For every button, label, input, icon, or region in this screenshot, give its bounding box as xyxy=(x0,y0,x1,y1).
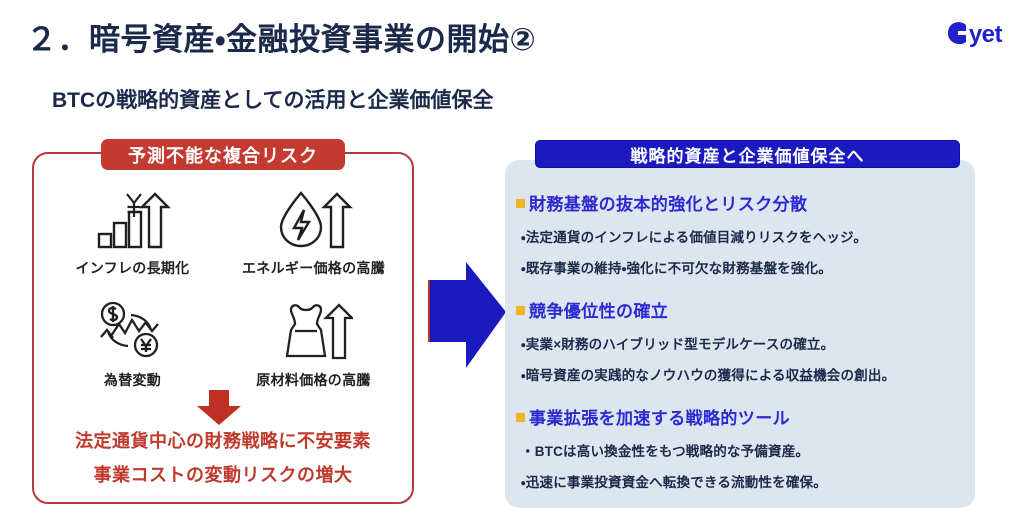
section-item: ・実業×財務のハイブリッド型モデルケースの確立。 xyxy=(521,333,968,353)
down-arrow-icon xyxy=(195,390,243,426)
strategy-section-financial-base: 財務基盤の抜本的強化とリスク分散 ・法定通貨のインフレによる価値目減りリスクをヘ… xyxy=(516,190,968,277)
energy-drop-bolt-up-icon xyxy=(275,188,353,250)
section-heading-text: 財務基盤の抜本的強化とリスク分散 xyxy=(529,190,807,215)
section-item: ・既存事業の維持・強化に不可欠な財務基盤を強化。 xyxy=(521,257,968,277)
risk-conclusion-line: 事業コストの変動リスクの増大 xyxy=(32,466,414,484)
risk-item-label: 原材料価格の高騰 xyxy=(256,370,370,390)
risk-item-inflation: インフレの長期化 xyxy=(42,188,223,278)
garment-price-up-icon xyxy=(275,300,353,362)
risk-item-energy: エネルギー価格の高騰 xyxy=(223,188,404,278)
square-bullet-icon xyxy=(516,306,525,315)
section-heading: 競争優位性の確立 xyxy=(516,297,968,322)
company-logo: yet xyxy=(944,18,1002,48)
slide-canvas: ２．暗号資産・金融投資事業の開始② yet BTCの戦略的資産としての活用と企業… xyxy=(0,0,1024,520)
section-heading-text: 競争優位性の確立 xyxy=(529,297,668,322)
strategy-sections: 財務基盤の抜本的強化とリスク分散 ・法定通貨のインフレによる価値目減りリスクをヘ… xyxy=(516,190,968,491)
gyet-g-icon xyxy=(944,18,974,48)
page-title: ２．暗号資産・金融投資事業の開始② xyxy=(26,14,536,59)
risk-item-label: 為替変動 xyxy=(104,370,161,390)
risk-conclusion-block: 法定通貨中心の財務戦略に不安要素 事業コストの変動リスクの増大 xyxy=(32,432,414,484)
section-heading: 財務基盤の抜本的強化とリスク分散 xyxy=(516,190,968,215)
strategy-panel-banner: 戦略的資産と企業価値保全へ xyxy=(535,140,960,168)
section-item: ・迅速に事業投資資金へ転換できる流動性を確保。 xyxy=(521,471,968,491)
bar-chart-yen-up-icon xyxy=(94,188,172,250)
risk-icon-grid: インフレの長期化 エネルギー価格の高騰 xyxy=(42,188,404,390)
risk-item-label: エネルギー価格の高騰 xyxy=(242,258,385,278)
square-bullet-icon xyxy=(516,413,525,422)
section-item: ・暗号資産の実践的なノウハウの獲得による収益機会の創出。 xyxy=(521,364,968,384)
currency-exchange-dollar-yen-icon xyxy=(94,300,172,362)
risk-item-label: インフレの長期化 xyxy=(76,258,190,278)
section-heading: 事業拡張を加速する戦略的ツール xyxy=(516,404,968,429)
square-bullet-icon xyxy=(516,199,525,208)
risk-row: 為替変動 原材料価格の高騰 xyxy=(42,300,404,390)
risk-conclusion-line: 法定通貨中心の財務戦略に不安要素 xyxy=(32,432,414,450)
risk-row: インフレの長期化 エネルギー価格の高騰 xyxy=(42,188,404,278)
section-item: ・法定通貨のインフレによる価値目減りリスクをヘッジ。 xyxy=(521,226,968,246)
right-arrow-icon xyxy=(428,262,508,370)
risk-panel-badge: 予測不能な複合リスク xyxy=(101,139,345,170)
risk-item-materials: 原材料価格の高騰 xyxy=(223,300,404,390)
strategy-section-competitive-edge: 競争優位性の確立 ・実業×財務のハイブリッド型モデルケースの確立。 ・暗号資産の… xyxy=(516,297,968,384)
page-subtitle: BTCの戦略的資産としての活用と企業価値保全 xyxy=(52,84,494,114)
risk-item-forex: 為替変動 xyxy=(42,300,223,390)
section-item: ・BTCは高い換金性をもつ戦略的な予備資産。 xyxy=(521,440,968,460)
strategy-section-expansion-tool: 事業拡張を加速する戦略的ツール ・BTCは高い換金性をもつ戦略的な予備資産。 ・… xyxy=(516,404,968,491)
section-heading-text: 事業拡張を加速する戦略的ツール xyxy=(529,404,790,429)
